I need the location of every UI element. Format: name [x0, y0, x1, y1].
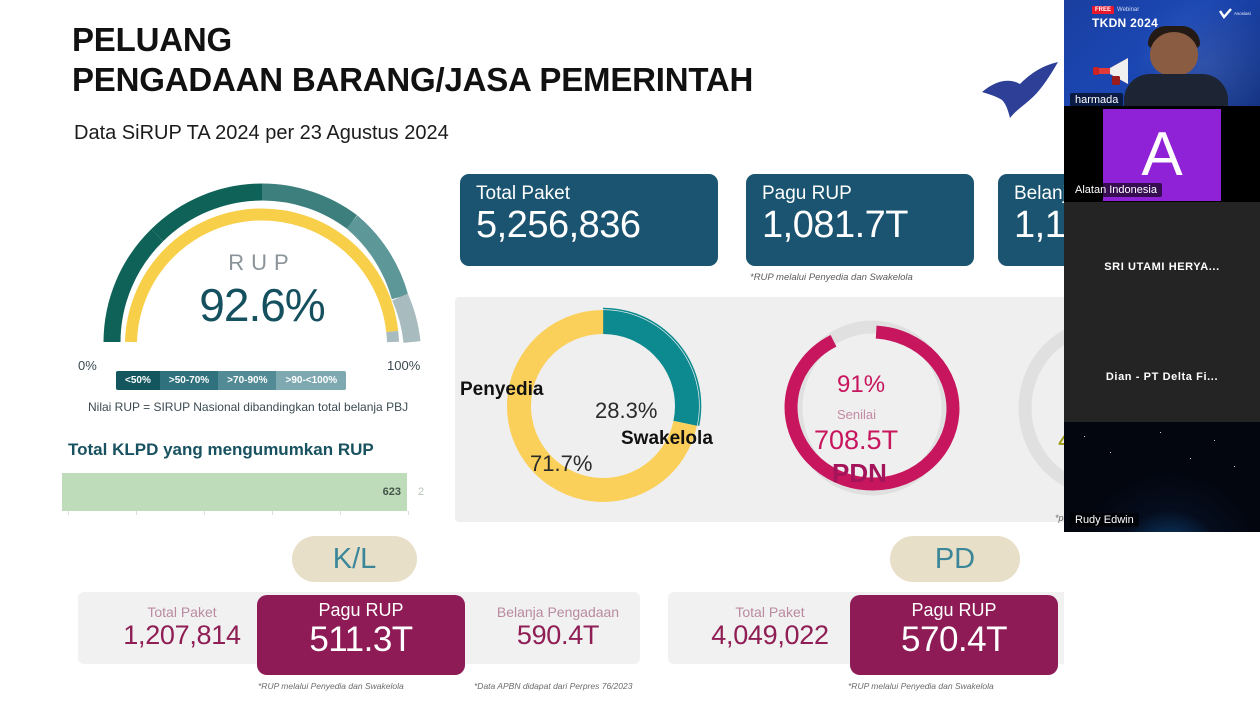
donut-senilai-label: Senilai: [837, 407, 876, 422]
kpi-note-pagu-rup: *RUP melalui Penyedia dan Swakelola: [750, 272, 913, 283]
svg-text:Asosiasi: Asosiasi: [1234, 11, 1251, 16]
donut-umkm: 55 S 42: [1013, 315, 1064, 506]
stat-total-paket-pd: Total Paket 4,049,022: [680, 604, 860, 651]
screenshot-root: PELUANG PENGADAAN BARANG/JASA PEMERINTAH…: [0, 0, 1260, 712]
kpi-card-total-paket[interactable]: Total Paket 5,256,836: [460, 174, 718, 266]
video-tile-speaker[interactable]: FREE Webinar TKDN 2024 Asosiasi harmada: [1064, 0, 1260, 112]
avatar-letter: A: [1141, 124, 1182, 186]
video-tile-rudy-edwin[interactable]: Rudy Edwin: [1064, 422, 1260, 532]
video-tile-sri-utami[interactable]: SRI UTAMI HERYA...: [1064, 202, 1260, 332]
slide-subtitle: Data SiRUP TA 2024 per 23 Agustus 2024: [74, 122, 449, 145]
stat-belanja-kl: Belanja Pengadaan 590.4T: [468, 604, 648, 651]
kpi-label: Pagu RUP: [762, 183, 958, 205]
gauge-label: RUP: [62, 250, 462, 276]
pagu-value: 570.4T: [850, 621, 1058, 660]
bird-logo-icon: [980, 58, 1064, 124]
donut-pct-swakelola: 28.3%: [595, 398, 657, 424]
stat-label: Total Paket: [92, 604, 272, 620]
presentation-slide: PELUANG PENGADAAN BARANG/JASA PEMERINTAH…: [0, 0, 1064, 712]
gauge-center-text: RUP 92.6%: [62, 250, 462, 332]
stat-value: 4,049,022: [680, 620, 860, 651]
donut-svg-3: [1013, 315, 1064, 501]
video-tile-avatar[interactable]: A Alatan Indonesia: [1064, 106, 1260, 202]
gauge-legend: <50% >50-70% >70-90% >90-<100%: [116, 371, 346, 390]
klpd-bar-chart: 623 2: [62, 473, 452, 515]
donut-panel: Penyedia 28.3% Swakelola 71.7% 91% Senil…: [455, 297, 1064, 522]
participant-name-0: Alatan Indonesia: [1070, 183, 1162, 197]
video-rail-empty-area: [1064, 532, 1260, 712]
klpd-bar-value: 623: [383, 486, 401, 498]
donut-amount-pdn: 708.5T: [814, 425, 898, 456]
donut-penyedia-swakelola: Penyedia 28.3% Swakelola 71.7%: [488, 291, 718, 526]
pagu-label: Pagu RUP: [850, 600, 1058, 621]
stat-label: Total Paket: [680, 604, 860, 620]
kpi-value: 5,256,836: [476, 205, 702, 246]
video-tile-dian[interactable]: Dian - PT Delta Fi...: [1064, 332, 1260, 422]
brand-logo: A In Cons: [980, 48, 1064, 138]
participant-name-3: Rudy Edwin: [1070, 513, 1139, 527]
page-title: PELUANG PENGADAAN BARANG/JASA PEMERINTAH: [72, 20, 753, 101]
stat-total-paket-kl: Total Paket 1,207,814: [92, 604, 272, 651]
badge-webinar-label: Webinar: [1117, 7, 1139, 13]
footnote-kl-right: *Data APBN didapat dari Perpres 76/2023: [474, 681, 632, 691]
pagu-card-kl[interactable]: Pagu RUP 511.3T: [257, 595, 465, 675]
kpi-label: Belanja: [1014, 183, 1064, 205]
klpd-bar-value-secondary: 2: [418, 486, 424, 498]
kpi-card-belanja[interactable]: Belanja 1,1: [998, 174, 1064, 266]
footnote-pd-left: *RUP melalui Penyedia dan Swakelola: [848, 681, 994, 691]
pagu-card-pd[interactable]: Pagu RUP 570.4T: [850, 595, 1058, 675]
donut-track-umkm: [1025, 327, 1064, 489]
footnote-kl-left: *RUP melalui Penyedia dan Swakelola: [258, 681, 404, 691]
gauge-note: Nilai RUP = SIRUP Nasional dibandingkan …: [88, 400, 408, 414]
video-participant-rail: FREE Webinar TKDN 2024 Asosiasi harmada …: [1064, 0, 1260, 712]
gauge-min-label: 0%: [78, 358, 97, 373]
donut-caption-pdn: PDN: [832, 458, 887, 489]
klpd-bar: 623: [62, 473, 407, 511]
stat-value: 1,207,814: [92, 620, 272, 651]
legend-item-1: >50-70%: [160, 371, 218, 390]
participant-name-speaker: harmada: [1070, 93, 1123, 107]
donut-label-penyedia: Penyedia: [460, 379, 543, 401]
donut-label-swakelola: Swakelola: [621, 428, 713, 450]
legend-item-3: >90-<100%: [276, 371, 346, 390]
pagu-label: Pagu RUP: [257, 600, 465, 621]
kpi-card-pagu-rup[interactable]: Pagu RUP 1,081.7T: [746, 174, 974, 266]
title-line-1: PELUANG: [72, 20, 753, 60]
corner-logo-icon: Asosiasi: [1218, 8, 1252, 22]
gauge-progress-remainder: [392, 331, 393, 342]
klpd-axis: [62, 511, 452, 515]
participant-center-name-1: SRI UTAMI HERYA...: [1064, 202, 1260, 332]
donut-pdn: 91% Senilai 708.5T PDN: [784, 315, 960, 506]
legend-item-0: <50%: [116, 371, 160, 390]
section-pill-pd: PD: [890, 536, 1020, 582]
title-line-2: PENGADAAN BARANG/JASA PEMERINTAH: [72, 60, 753, 100]
pill-label: K/L: [333, 543, 377, 576]
pagu-value: 511.3T: [257, 621, 465, 660]
legend-item-2: >70-90%: [218, 371, 276, 390]
section-pill-kl: K/L: [292, 536, 417, 582]
kpi-value: 1,081.7T: [762, 205, 958, 246]
webinar-badge: FREE Webinar: [1092, 6, 1139, 14]
kpi-label: Total Paket: [476, 183, 702, 205]
gauge-value: 92.6%: [62, 278, 462, 332]
speaker-head: [1150, 32, 1198, 76]
donut-pct-pdn: 91%: [837, 371, 885, 399]
donut-note: *per: [1055, 513, 1064, 523]
badge-free-label: FREE: [1092, 6, 1114, 14]
event-title: TKDN 2024: [1092, 16, 1158, 30]
stat-value: 590.4T: [468, 620, 648, 651]
klpd-title: Total KLPD yang mengumumkan RUP: [68, 440, 374, 460]
kpi-value: 1,1: [1014, 205, 1064, 246]
gauge-max-label: 100%: [387, 358, 420, 373]
participant-center-name-2: Dian - PT Delta Fi...: [1064, 332, 1260, 422]
megaphone-icon: [1090, 54, 1134, 90]
donut-pct-penyedia: 71.7%: [530, 451, 592, 477]
pill-label: PD: [935, 543, 975, 576]
stat-label: Belanja Pengadaan: [468, 604, 648, 620]
